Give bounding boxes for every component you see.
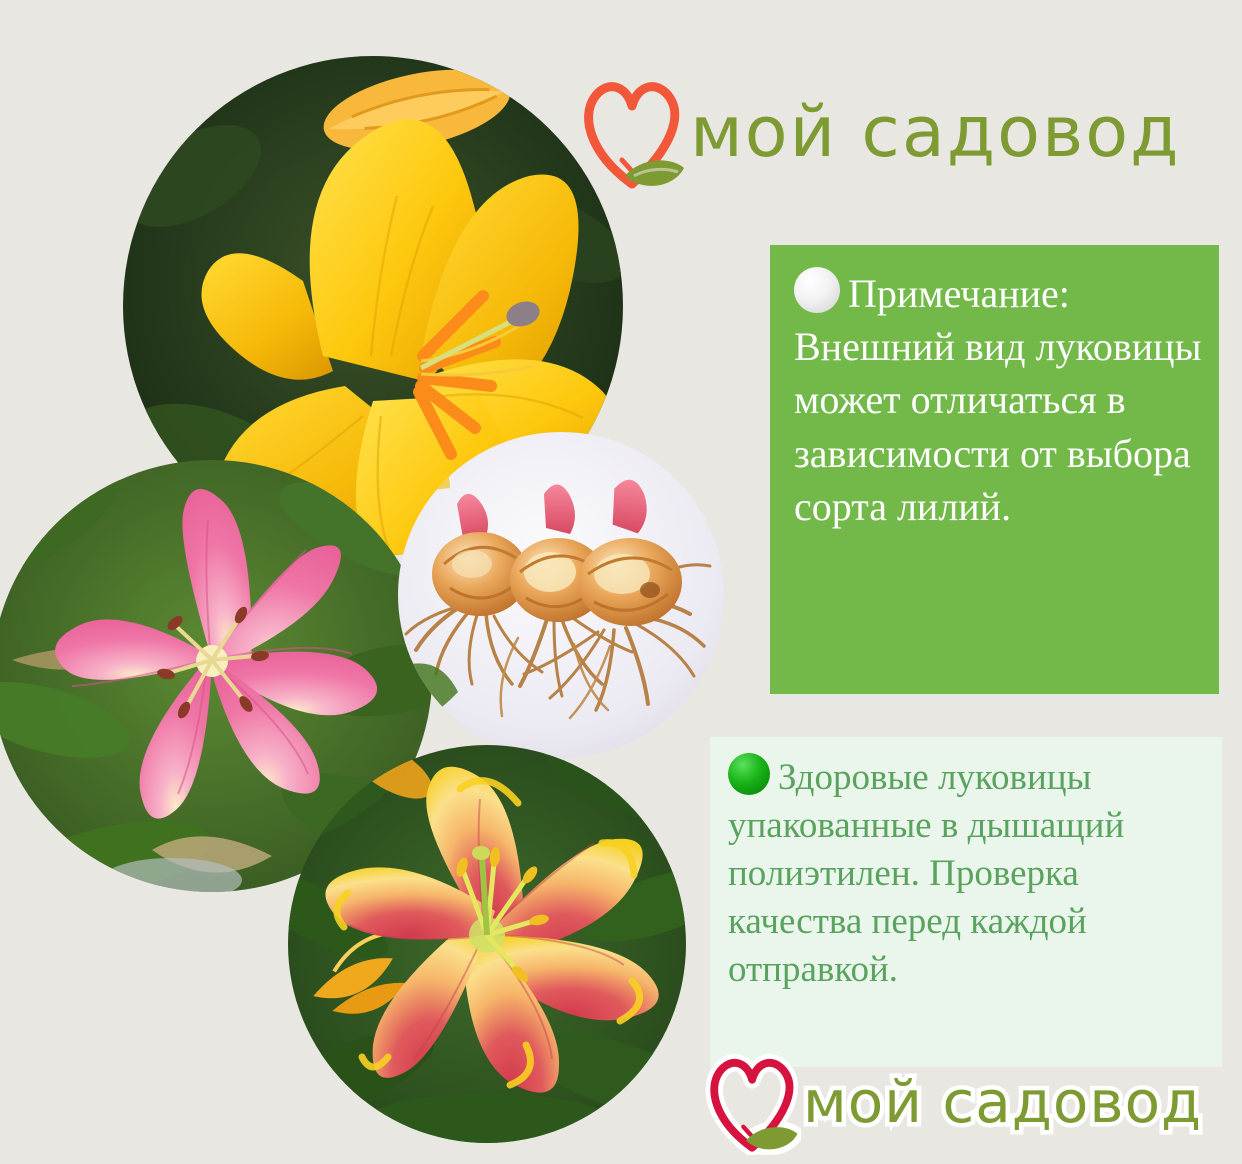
note-panel-secondary: Здоровые луковицы упакованные в дышащий … [710, 737, 1222, 1067]
heart-leaf-icon [705, 1050, 801, 1154]
note-secondary-text: Здоровые луковицы упакованные в дышащий … [728, 757, 1124, 990]
white-circle-bullet-icon [794, 267, 840, 313]
brand-logo-bottom[interactable]: мой садовод [705, 1046, 1225, 1158]
photo-lily-bulbs [398, 432, 724, 758]
note-primary-heading: Примечание: [848, 271, 1070, 316]
heart-leaf-svg [578, 72, 688, 192]
note-secondary-body: Здоровые луковицы упакованные в дышащий … [728, 753, 1212, 994]
lily-bulbs-illustration [398, 432, 724, 758]
brand-wordmark-bottom: мой садовод [803, 1073, 1202, 1131]
red-yellow-lily-illustration [288, 745, 686, 1143]
heart-leaf-icon [578, 72, 688, 192]
note-primary-text: Внешний вид луковицы может отличаться в … [794, 324, 1201, 529]
photo-red-yellow-lily [288, 745, 686, 1143]
brand-logo-top[interactable]: мой садовод [578, 58, 1226, 206]
brand-wordmark-top: мой садовод [690, 97, 1180, 167]
note-panel-primary: Примечание: Внешний вид луковицы может о… [770, 245, 1219, 694]
green-circle-bullet-icon [728, 753, 770, 795]
poster-canvas: Примечание: Внешний вид луковицы может о… [0, 0, 1242, 1164]
heart-leaf-svg [705, 1050, 801, 1155]
note-primary-body: Примечание: Внешний вид луковицы может о… [794, 267, 1203, 533]
